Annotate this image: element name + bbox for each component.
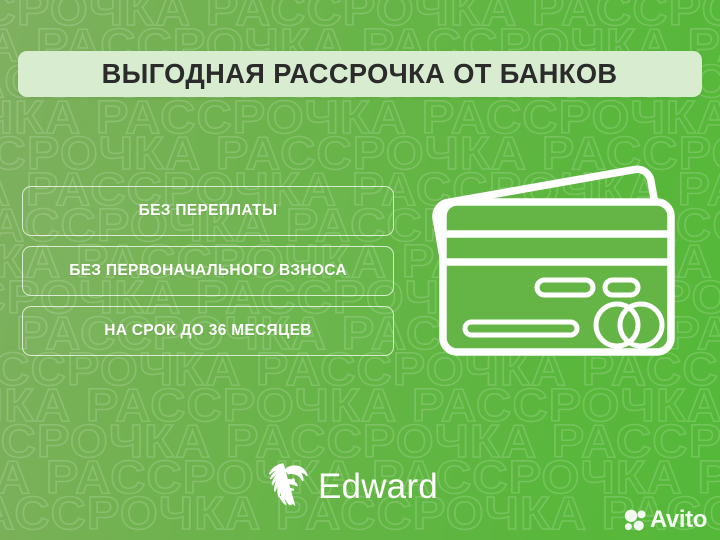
- watermark-row: РАССРОЧКА РАССРОЧКА РАССРОЧКА РАССРОЧКА …: [0, 418, 720, 464]
- feature-label: НА СРОК ДО 36 МЕСЯЦЕВ: [104, 322, 312, 340]
- headline-banner: ВЫГОДНАЯ РАССРОЧКА ОТ БАНКОВ: [18, 51, 702, 97]
- page-title: ВЫГОДНАЯ РАССРОЧКА ОТ БАНКОВ: [102, 58, 618, 90]
- feature-label: БЕЗ ПЕРЕПЛАТЫ: [139, 202, 278, 220]
- promo-poster: РАССРОЧКА РАССРОЧКА РАССРОЧКА РАССРОЧКА …: [0, 0, 720, 540]
- watermark-row: РАССРОЧКА РАССРОЧКА РАССРОЧКА РАССРОЧКА …: [0, 94, 720, 140]
- credit-cards-icon: [425, 150, 695, 395]
- brand-name: Edward: [318, 469, 438, 504]
- avito-wordmark: Avito: [650, 508, 707, 532]
- avito-dots-icon: [624, 509, 646, 531]
- feature-list: БЕЗ ПЕРЕПЛАТЫ БЕЗ ПЕРВОНАЧАЛЬНОГО ВЗНОСА…: [22, 186, 394, 356]
- feature-item: БЕЗ ПЕРЕПЛАТЫ: [22, 186, 394, 236]
- lion-head-icon: [262, 461, 308, 511]
- avito-watermark: Avito: [624, 508, 707, 532]
- feature-label: БЕЗ ПЕРВОНАЧАЛЬНОГО ВЗНОСА: [69, 262, 347, 280]
- watermark-row: РАССРОЧКА РАССРОЧКА РАССРОЧКА РАССРОЧКА …: [0, 0, 720, 32]
- brand-logo: Edward: [262, 461, 438, 511]
- feature-item: БЕЗ ПЕРВОНАЧАЛЬНОГО ВЗНОСА: [22, 246, 394, 296]
- feature-item: НА СРОК ДО 36 МЕСЯЦЕВ: [22, 306, 394, 356]
